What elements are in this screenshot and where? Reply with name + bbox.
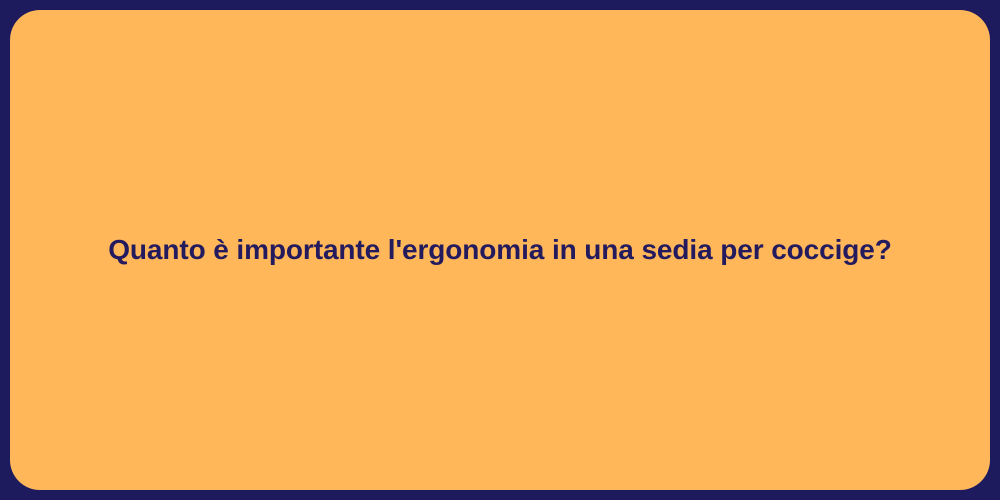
- question-heading: Quanto è importante l'ergonomia in una s…: [108, 231, 892, 269]
- question-card: Quanto è importante l'ergonomia in una s…: [10, 10, 990, 490]
- page-frame: Quanto è importante l'ergonomia in una s…: [0, 0, 1000, 500]
